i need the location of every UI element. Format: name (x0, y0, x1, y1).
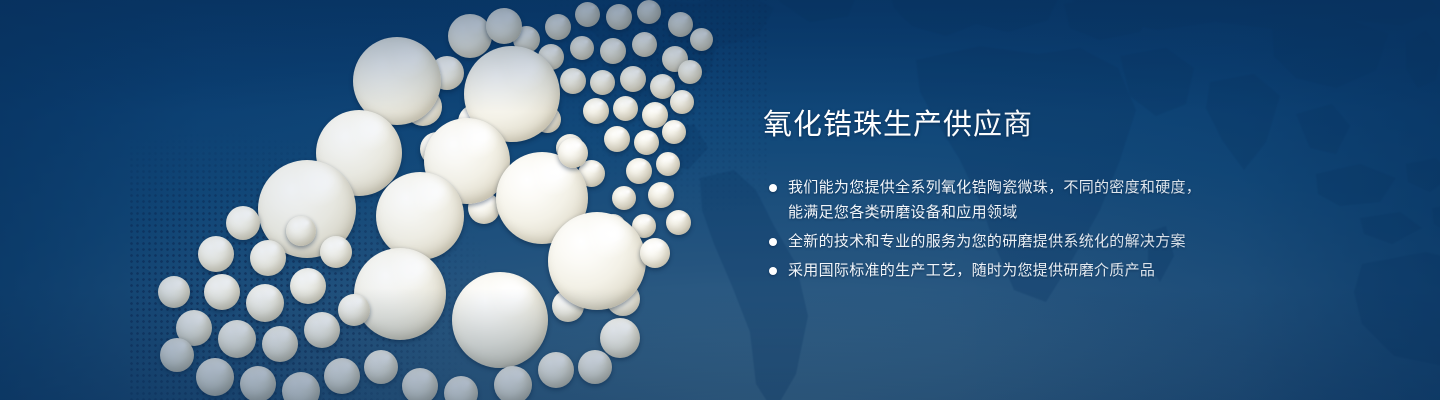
edge-vignette (0, 0, 1440, 400)
product-hero-banner: 氧化锆珠生产供应商 我们能为您提供全系列氧化锆陶瓷微珠，不同的密度和硬度， 能满… (0, 0, 1440, 400)
